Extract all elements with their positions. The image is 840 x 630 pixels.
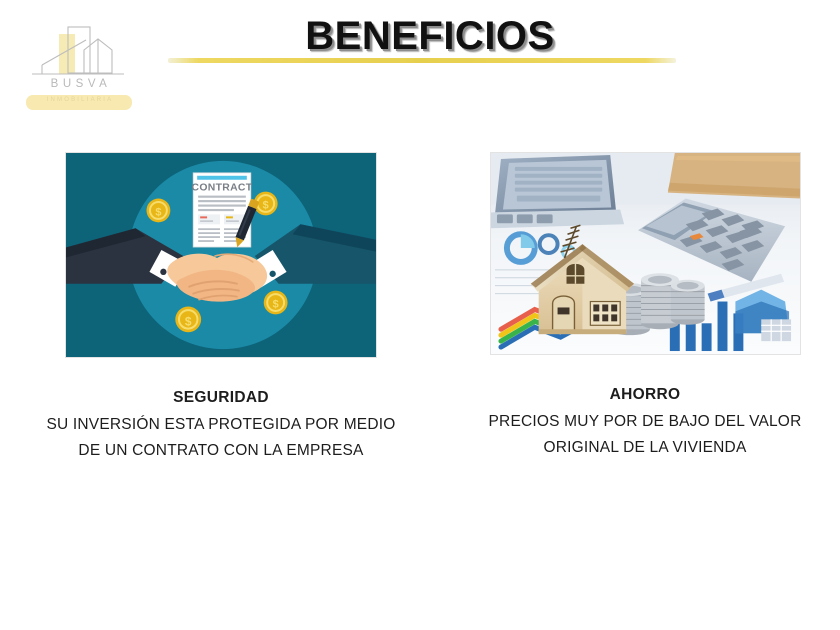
slide-root: { "brand": { "logo_icon": "building-outl…	[0, 0, 840, 630]
brand-logo: BUSVA INMOBILIARIA	[24, 22, 134, 112]
benefit-body: PRECIOS MUY POR DE BAJO DEL VALOR ORIGIN…	[480, 409, 810, 461]
svg-text:$: $	[273, 299, 279, 311]
building-outline-icon	[24, 22, 134, 82]
benefit-caption: SEGURIDAD SU INVERSIÓN ESTA PROTEGIDA PO…	[45, 385, 397, 464]
benefit-card-ahorro: AHORRO PRECIOS MUY POR DE BAJO DEL VALOR…	[490, 152, 801, 461]
brand-tagline-plate: INMOBILIARIA	[26, 95, 132, 110]
handshake-contract-illustration: $ $ $ $	[65, 152, 377, 358]
benefit-caption: AHORRO PRECIOS MUY POR DE BAJO DEL VALOR…	[480, 382, 810, 461]
svg-text:CONTRACT: CONTRACT	[192, 183, 253, 194]
brand-name: BUSVA	[24, 78, 134, 90]
page-title-text: BENEFICIOS	[160, 14, 700, 58]
house-model-coins-photo	[490, 152, 801, 355]
benefit-body: SU INVERSIÓN ESTA PROTEGIDA POR MEDIO DE…	[45, 412, 397, 464]
benefit-title: SEGURIDAD	[45, 385, 397, 411]
svg-text:$: $	[263, 199, 269, 211]
page-title: BENEFICIOS	[160, 14, 700, 58]
benefit-card-seguridad: $ $ $ $	[65, 152, 377, 464]
brand-tagline: INMOBILIARIA	[26, 97, 132, 103]
svg-text:$: $	[185, 314, 192, 328]
benefit-title: AHORRO	[480, 382, 810, 408]
svg-text:$: $	[155, 206, 161, 218]
title-underline-rule	[168, 58, 676, 63]
